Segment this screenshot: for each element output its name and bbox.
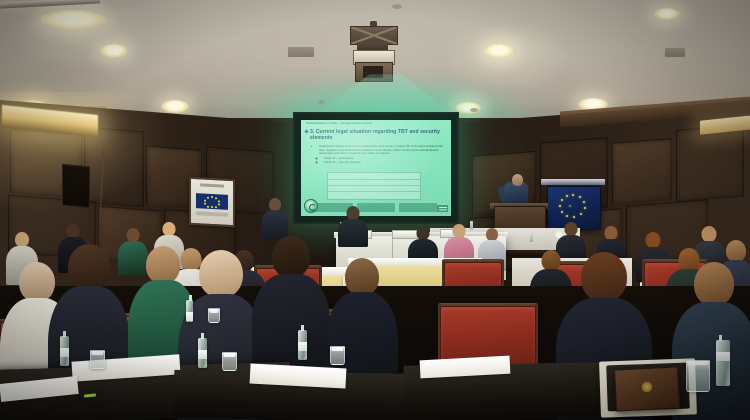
- conference-folder: [614, 366, 680, 411]
- folder-gold-emblem-icon: [641, 381, 653, 393]
- presentation-slide: Technical Barriers to Trade — EU approxi…: [301, 120, 451, 216]
- slide-bullet: Article 16 — Security elements: [324, 161, 443, 165]
- water-bottle: [198, 338, 207, 368]
- slide-bullet: Analysis and revision of the current nat…: [319, 145, 443, 156]
- water-bottle: [298, 330, 307, 360]
- water-bottle: [186, 300, 193, 322]
- ceiling-air-vent: [665, 48, 685, 57]
- conference-room-photo: Technical Barriers to Trade — EU approxi…: [0, 0, 750, 420]
- speaker-head: [512, 174, 523, 186]
- drinking-glass: [222, 352, 237, 371]
- slide-table: [327, 172, 421, 200]
- wall-panel: [676, 124, 744, 201]
- drinking-glass: [686, 360, 710, 392]
- smoke-detector: [318, 100, 325, 104]
- smoke-detector: [470, 108, 478, 112]
- drinking-glass: [330, 346, 345, 365]
- slide-logo-right-icon: [437, 205, 448, 212]
- attendee: [338, 206, 368, 246]
- slide-bullet: Article 15 — Exemptions: [324, 157, 443, 161]
- slide-bullets: Analysis and revision of the current nat…: [315, 145, 443, 166]
- drinking-glass: [208, 308, 220, 323]
- ceiling-downlight: [654, 8, 680, 20]
- ceiling-air-vent: [288, 47, 314, 57]
- attendee: [262, 198, 288, 240]
- drinking-glass: [90, 350, 105, 369]
- flag-rail: [541, 179, 605, 185]
- water-bottle: [530, 233, 533, 242]
- water-bottle: [60, 336, 69, 366]
- water-bottle: [716, 340, 730, 386]
- wall-panel: [612, 138, 672, 205]
- slide-header-note: Technical Barriers to Trade — EU approxi…: [306, 122, 446, 127]
- poster-stars: [196, 193, 228, 210]
- smoke-detector: [392, 4, 402, 9]
- ceiling-projector: [347, 26, 399, 80]
- slide-footer-boxes: [315, 203, 437, 212]
- light-glow: [440, 18, 570, 94]
- slide-header-text: Technical Barriers to Trade — EU approxi…: [306, 122, 446, 125]
- poster-eu-flag-icon: [196, 193, 228, 210]
- slide-logo-left-icon: [304, 199, 318, 213]
- eu-project-poster: [189, 177, 235, 227]
- slide-title: 3. Current legal situation regarding TBT…: [310, 129, 444, 141]
- wall-speaker: [62, 164, 90, 208]
- projection-screen: Technical Barriers to Trade — EU approxi…: [293, 112, 459, 224]
